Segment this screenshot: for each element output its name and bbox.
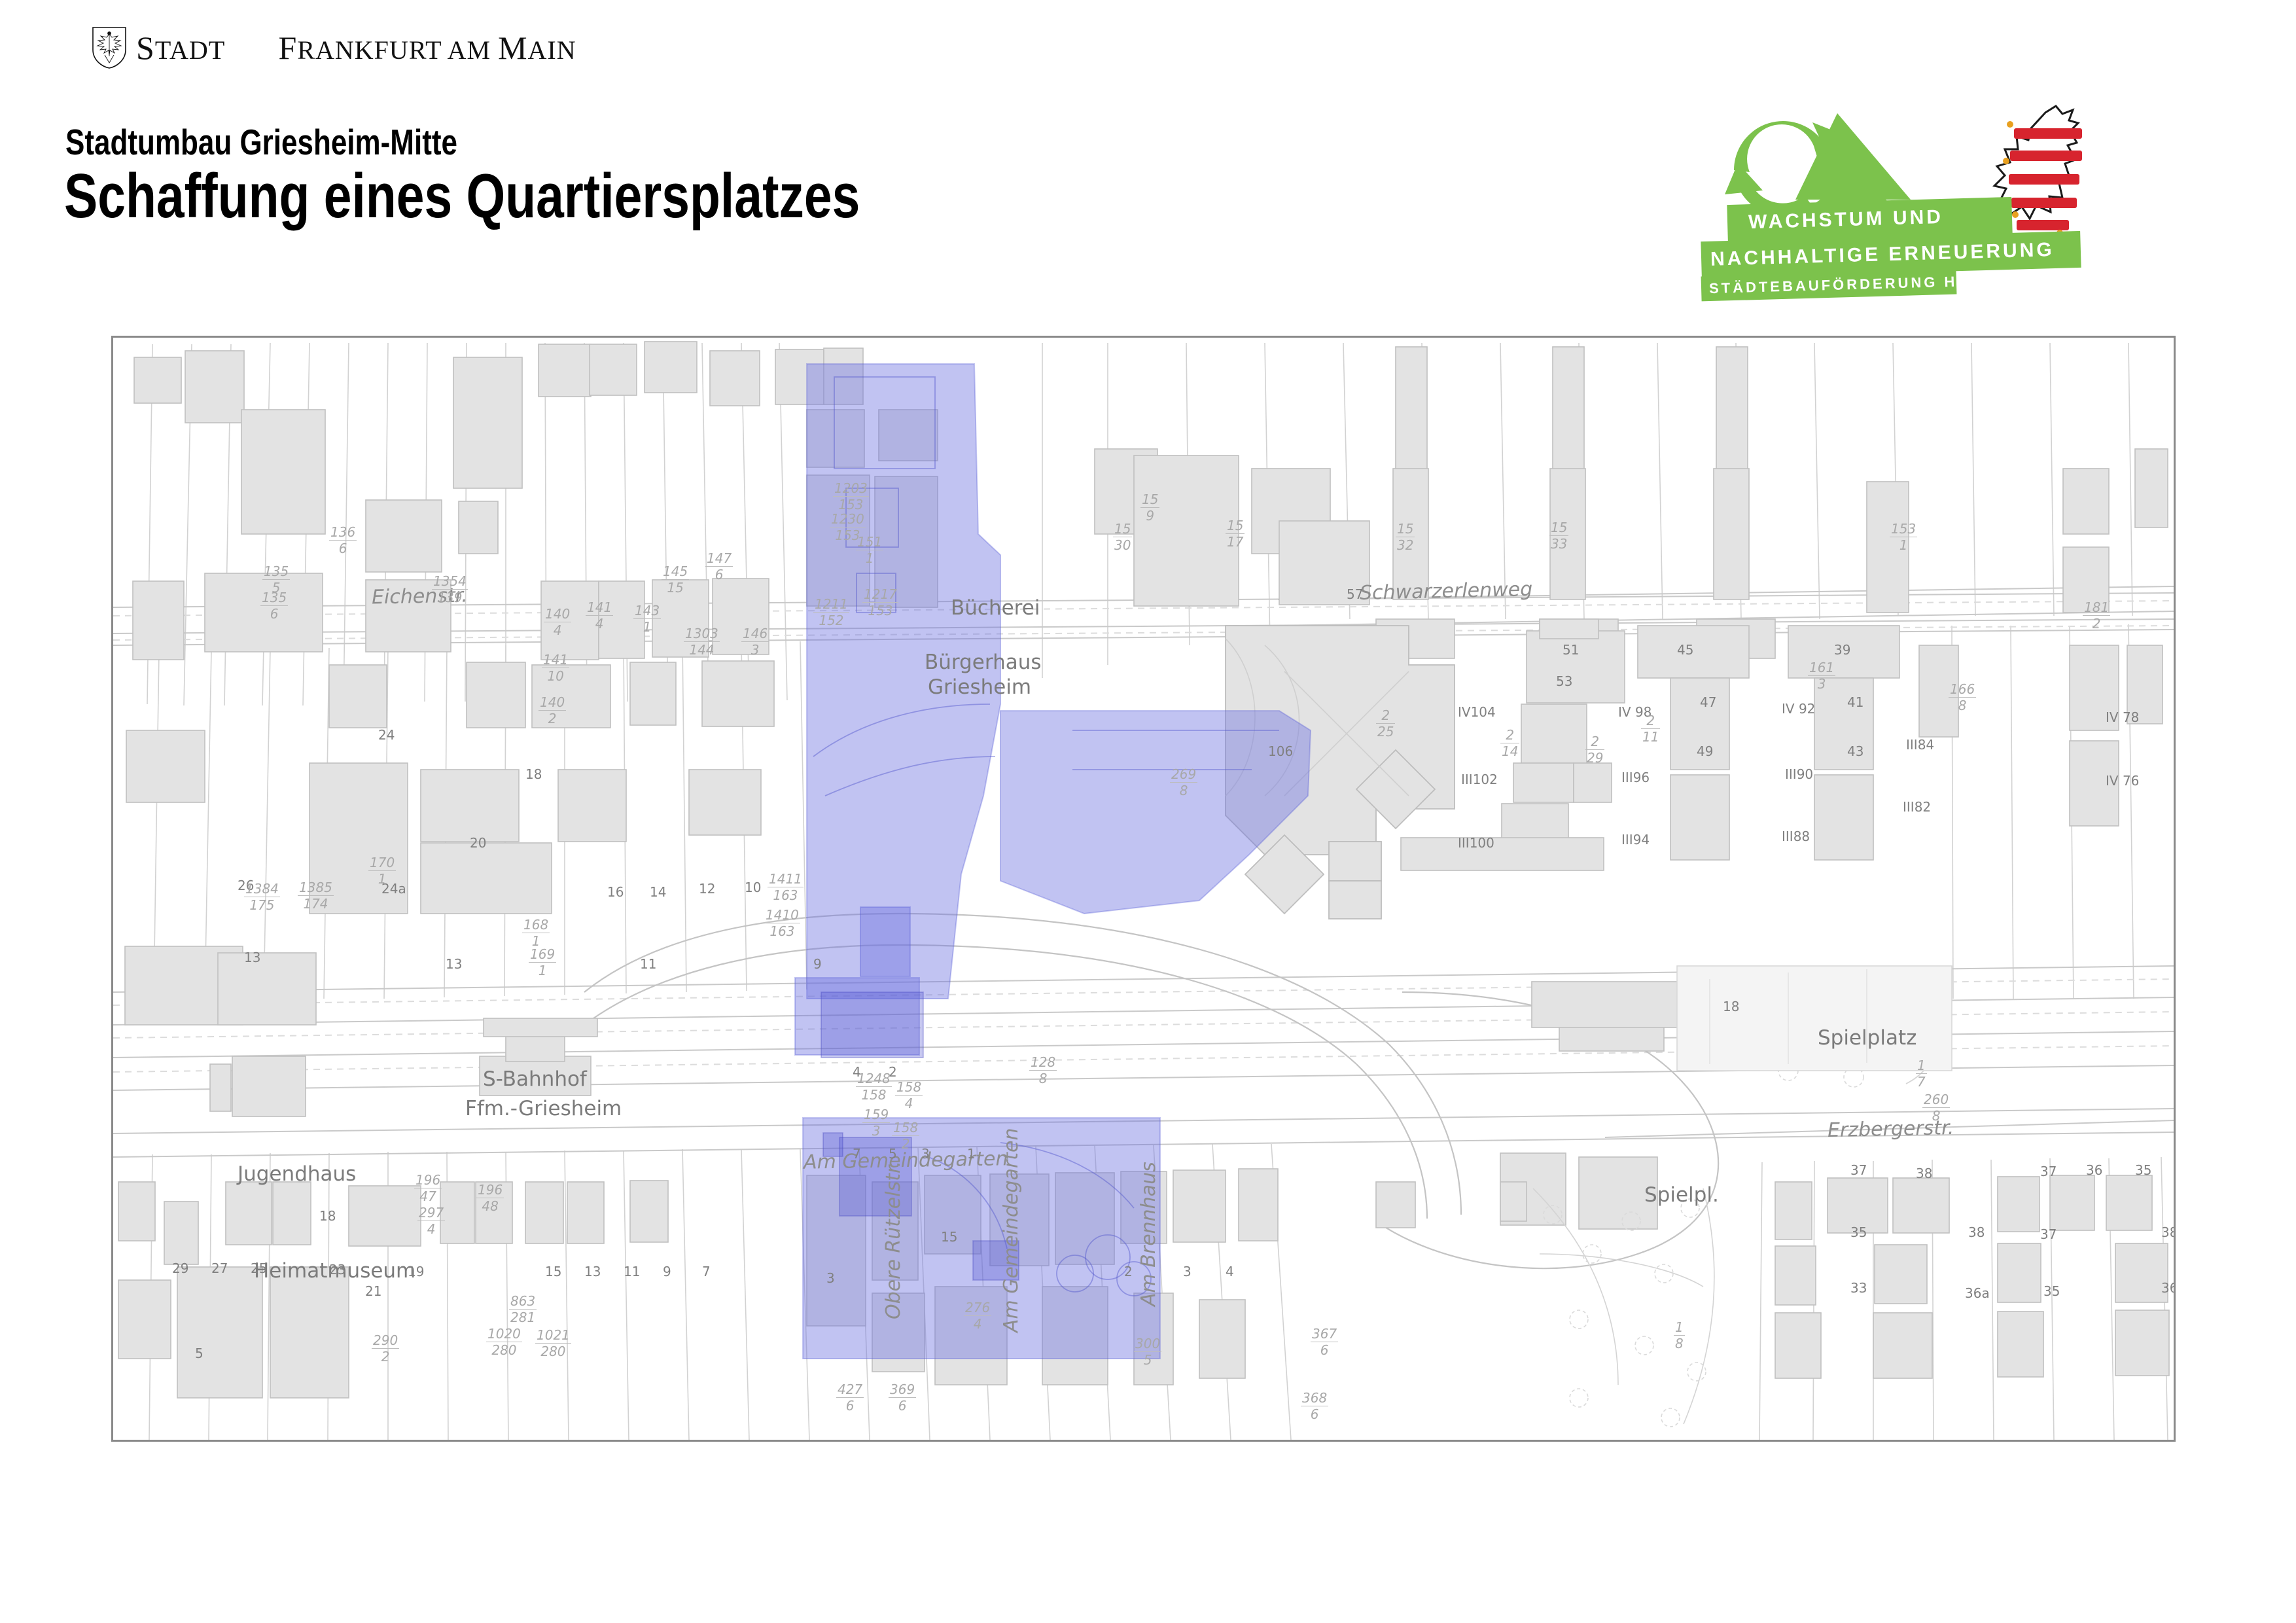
- poster-page: STADT FRANKFURT AM MAIN Stadtumbau Gries…: [0, 0, 2296, 1623]
- map-vector-layer: [113, 338, 2174, 1440]
- program-logo-wachstum-und-nachhaltige-erneuerung: WACHSTUM UND NACHHALTIGE ERNEUERUNG STÄD…: [1701, 121, 2185, 317]
- city-of-frankfurt-logo: STADT FRANKFURT AM MAIN: [92, 26, 576, 69]
- city-wordmark: STADT FRANKFURT AM MAIN: [136, 29, 576, 67]
- page-title: Schaffung eines Quartiersplatzes: [64, 160, 860, 232]
- project-subtitle: Stadtumbau Griesheim-Mitte: [65, 121, 457, 163]
- footer-logo-strip: Bundesministerium für Wohnen, Stadtentwi…: [0, 1472, 2296, 1623]
- frankfurt-eagle-crest-icon: [92, 26, 127, 69]
- cadastral-map[interactable]: Eichenstr. Schwarzerlenweg Am Gemeindega…: [111, 336, 2176, 1442]
